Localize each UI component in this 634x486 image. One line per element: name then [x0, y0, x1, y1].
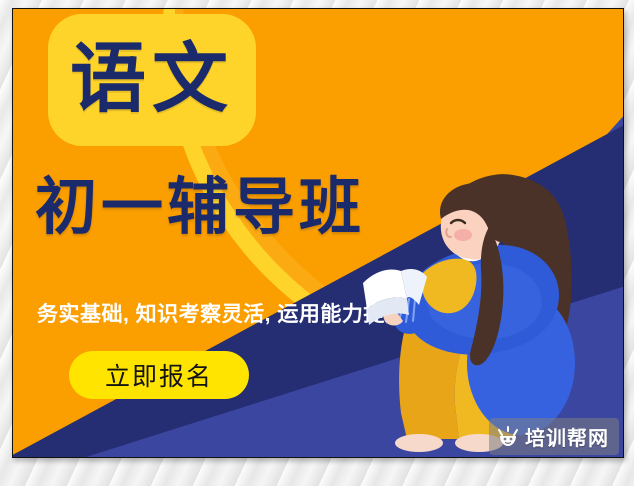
course-promo-banner: 语文 初一辅导班 务实基础, 知识考察灵活, 运用能力提升 立即报名	[12, 8, 624, 458]
page-background: 语文 初一辅导班 务实基础, 知识考察灵活, 运用能力提升 立即报名	[0, 0, 634, 486]
watermark: 培训帮网	[489, 418, 619, 455]
page-title: 初一辅导班	[35, 177, 365, 239]
subtitle-text: 务实基础, 知识考察灵活, 运用能力提升	[37, 298, 406, 328]
foot-left	[395, 434, 443, 452]
watermark-text: 培训帮网	[525, 422, 609, 451]
enroll-now-button[interactable]: 立即报名	[69, 351, 249, 399]
subject-badge: 语文	[48, 14, 256, 146]
woman-reading-book-illustration	[363, 167, 613, 457]
cheek-blush	[454, 229, 472, 241]
enroll-now-button-label: 立即报名	[105, 357, 213, 393]
subject-badge-label: 语文	[70, 42, 234, 118]
smiley-sun-icon	[497, 426, 519, 448]
